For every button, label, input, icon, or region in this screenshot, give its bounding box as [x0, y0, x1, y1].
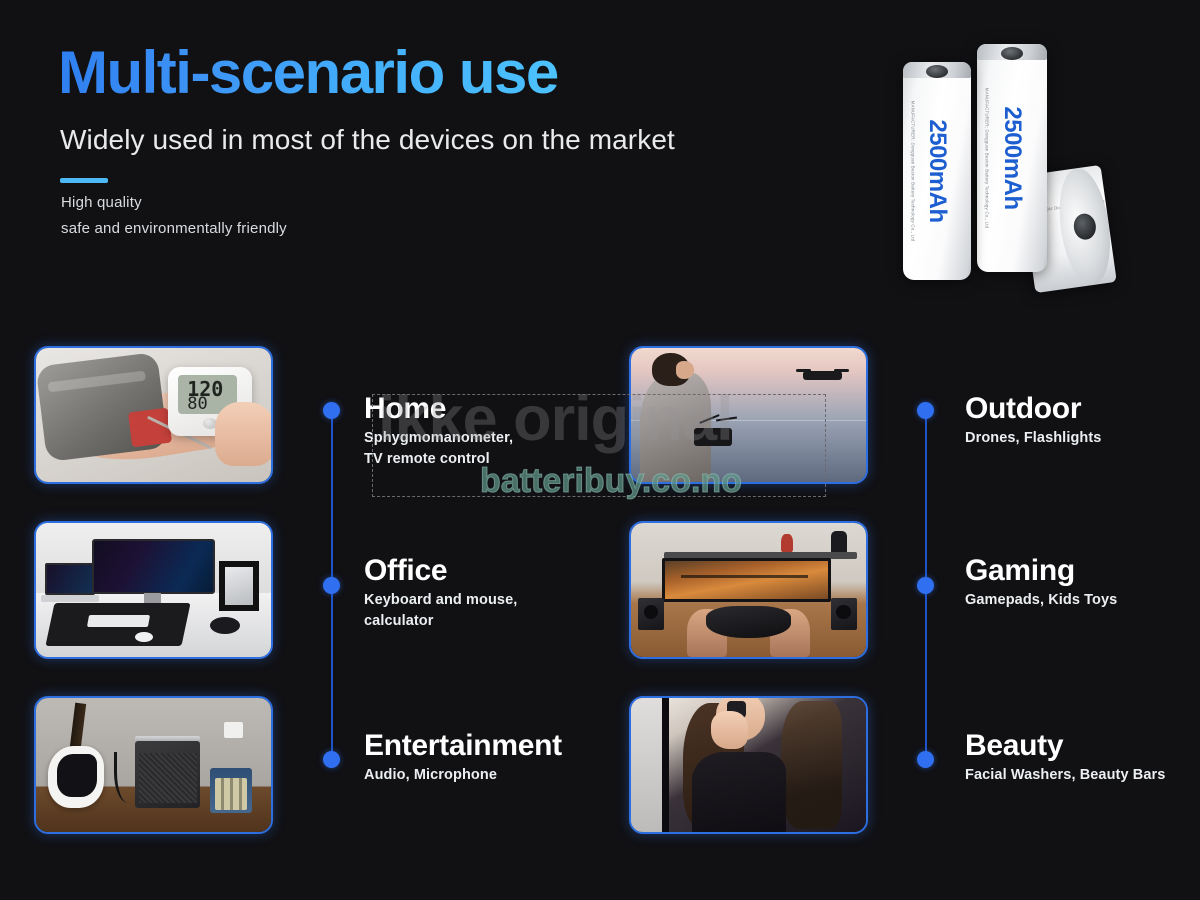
- scenario-desc-office: Keyboard and mouse, calculator: [364, 590, 517, 632]
- quality-note-line-2: safe and environmentally friendly: [61, 220, 287, 237]
- hands-holding-game-controller-photo: [631, 523, 866, 657]
- scenario-desc-gaming: Gamepads, Kids Toys: [965, 590, 1117, 611]
- quality-note-line-1: High quality: [61, 194, 142, 211]
- scenario-title-office: Office: [364, 554, 447, 588]
- watermark-overlay-text: ikke original: [378, 383, 733, 455]
- timeline-dot-office: [323, 577, 340, 594]
- timeline-dot-home: [323, 402, 340, 419]
- office-desk-setup-photo: [36, 523, 271, 657]
- battery-capacity-label: 2500mAh: [998, 106, 1026, 209]
- scenario-photo-home: 12080: [34, 346, 273, 484]
- poster-root: Multi-scenario use Widely used in most o…: [0, 0, 1200, 900]
- blood-pressure-monitor-photo: 12080: [36, 348, 271, 482]
- page-subtitle: Widely used in most of the devices on th…: [60, 124, 675, 156]
- timeline-dot-outdoor: [917, 402, 934, 419]
- woman-using-facial-device-in-mirror-photo: [631, 698, 866, 832]
- watermark-site-text: batteribuy.co.no: [480, 462, 742, 501]
- battery-cell-left: MANUFACTURER: Dongguan Beston Battery Te…: [903, 62, 971, 280]
- battery-capacity-label: 2500mAh: [923, 119, 951, 222]
- battery-terminal-icon: [926, 65, 948, 78]
- bass-guitar-and-amplifier-photo: [36, 698, 271, 832]
- scenario-desc-beauty: Facial Washers, Beauty Bars: [965, 765, 1165, 786]
- scenario-title-outdoor: Outdoor: [965, 392, 1081, 426]
- battery-terminal-icon: [1053, 165, 1117, 289]
- battery-manufacturer-text: MANUFACTURER: Dongguan Beston Battery Te…: [911, 101, 916, 242]
- timeline-dot-entertainment: [323, 751, 340, 768]
- scenario-desc-outdoor: Drones, Flashlights: [965, 428, 1101, 449]
- timeline-dot-beauty: [917, 751, 934, 768]
- page-title: Multi-scenario use: [58, 38, 558, 107]
- battery-manufacturer-text: MANUFACTURER: Dongguan Beston Battery Te…: [985, 88, 990, 229]
- battery-terminal-icon: [1001, 47, 1023, 60]
- battery-cell-center: MANUFACTURER: Dongguan Beston Battery Te…: [977, 44, 1047, 272]
- scenario-title-beauty: Beauty: [965, 729, 1063, 763]
- scenario-title-entertainment: Entertainment: [364, 729, 562, 763]
- scenario-photo-entertainment: [34, 696, 273, 834]
- timeline-dot-gaming: [917, 577, 934, 594]
- scenario-photo-office: [34, 521, 273, 659]
- battery-product-image: MANUFACTURER: Dongguan Beston Battery Te…: [895, 22, 1110, 292]
- scenario-photo-beauty: [629, 696, 868, 834]
- scenario-photo-gaming: [629, 521, 868, 659]
- scenario-desc-entertainment: Audio, Microphone: [364, 765, 497, 786]
- scenario-title-gaming: Gaming: [965, 554, 1075, 588]
- accent-divider: [60, 178, 108, 183]
